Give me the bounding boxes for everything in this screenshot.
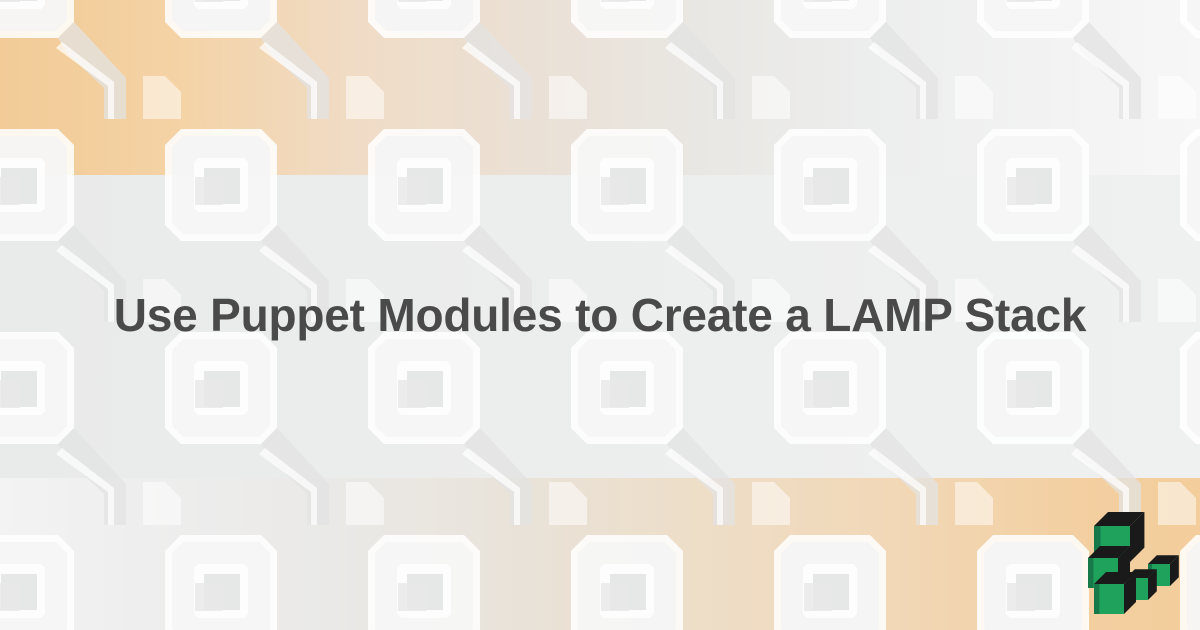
cube-medium-low [1094, 572, 1136, 614]
page-title: Use Puppet Modules to Create a LAMP Stac… [54, 289, 1147, 342]
linode-cubes-logo [1078, 512, 1188, 622]
logo-icon [1078, 512, 1188, 622]
og-share-card: Use Puppet Modules to Create a LAMP Stac… [0, 0, 1200, 630]
headline-container: Use Puppet Modules to Create a LAMP Stac… [0, 0, 1200, 630]
